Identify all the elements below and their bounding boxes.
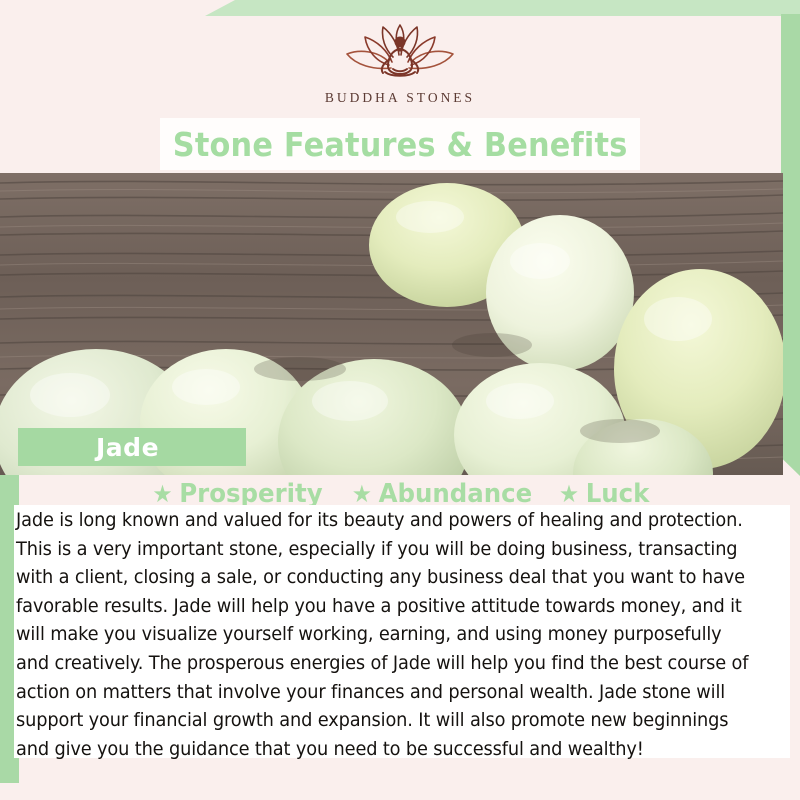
page-title: Stone Features & Benefits	[173, 125, 628, 164]
poster-root: BUDDHA STONES Stone Features & Benefits	[0, 0, 800, 800]
star-icon: ★	[559, 482, 579, 506]
stone-label: Jade	[96, 433, 159, 462]
brand-header: BUDDHA STONES	[0, 0, 800, 118]
description-text: Jade is long known and valued for its be…	[16, 507, 753, 764]
star-icon: ★	[352, 482, 372, 506]
star-icon: ★	[153, 482, 173, 506]
brand-logo: BUDDHA STONES	[325, 22, 475, 106]
stone-label-band: Jade	[18, 428, 246, 466]
brand-name: BUDDHA STONES	[325, 90, 475, 106]
page-title-band: Stone Features & Benefits	[160, 118, 640, 170]
lotus-meditation-icon	[325, 22, 475, 84]
